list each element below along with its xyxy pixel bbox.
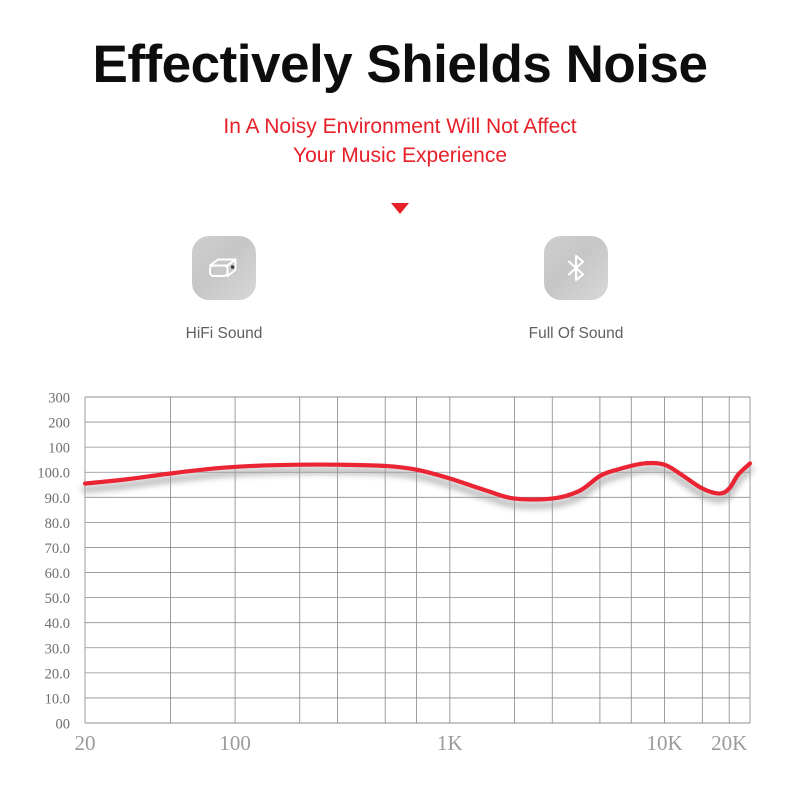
y-axis-tick-label: 40.0 (45, 616, 70, 632)
y-axis-tick-label: 80.0 (45, 516, 70, 532)
x-axis-tick-label: 1K (437, 731, 463, 755)
feature-item-full-of-sound[interactable]: Full Of Sound (511, 236, 641, 343)
y-axis-tick-label: 30.0 (45, 641, 70, 657)
frequency-response-plot: 300200100100.090.080.070.060.050.040.030… (0, 386, 800, 766)
feature-item-hifi-sound[interactable]: HiFi Sound (159, 236, 289, 343)
x-axis-tick-label: 20 (75, 731, 96, 755)
x-axis-labels: 201001K10K20K (75, 731, 748, 755)
bluetooth-icon (556, 248, 596, 288)
x-axis-tick-label: 10K (646, 731, 682, 755)
promo-page: Effectively Shields Noise In A Noisy Env… (0, 0, 800, 800)
feature-tile-hifi-sound (192, 236, 256, 300)
page-title: Effectively Shields Noise (0, 34, 800, 96)
chart-gridlines (85, 397, 750, 723)
y-axis-tick-label: 300 (48, 391, 70, 407)
earphone-case-icon (204, 248, 244, 288)
y-axis-tick-label: 70.0 (45, 541, 70, 557)
y-axis-tick-label: 200 (48, 416, 70, 432)
frequency-response-chart: 300200100100.090.080.070.060.050.040.030… (0, 386, 800, 766)
y-axis-labels: 300200100100.090.080.070.060.050.040.030… (37, 391, 70, 733)
y-axis-tick-label: 90.0 (45, 491, 70, 507)
y-axis-tick-label: 00 (56, 717, 71, 733)
y-axis-tick-label: 100.0 (37, 466, 70, 482)
feature-label-full-of-sound: Full Of Sound (529, 325, 624, 343)
page-subtitle: In A Noisy Environment Will Not Affect Y… (0, 112, 800, 170)
y-axis-tick-label: 50.0 (45, 591, 70, 607)
subtitle-line-1: In A Noisy Environment Will Not Affect (0, 112, 800, 141)
x-axis-tick-label: 20K (711, 731, 747, 755)
y-axis-tick-label: 60.0 (45, 566, 70, 582)
feature-tile-full-of-sound (544, 236, 608, 300)
feature-label-hifi-sound: HiFi Sound (186, 325, 263, 343)
y-axis-tick-label: 10.0 (45, 691, 70, 707)
y-axis-tick-label: 100 (48, 441, 70, 457)
x-axis-tick-label: 100 (219, 731, 251, 755)
series-shadow (85, 469, 750, 506)
y-axis-tick-label: 20.0 (45, 666, 70, 682)
caret-down-icon (391, 203, 409, 214)
feature-list: HiFi Sound Full Of Sound (0, 236, 800, 343)
subtitle-line-2: Your Music Experience (0, 141, 800, 170)
caret-down-container (0, 203, 800, 214)
